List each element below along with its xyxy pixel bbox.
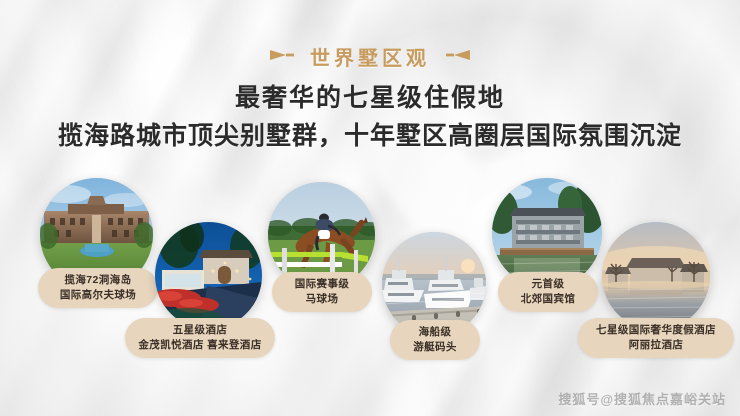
gallery-label-polo-field: 国际赛事级 马球场 (272, 272, 372, 312)
eyebrow-text: 世界墅区观 (310, 42, 430, 71)
gallery-label-golf-course: 揽海72洞海岛 国际高尔夫球场 (38, 268, 158, 308)
label-line-1: 五星级酒店 (137, 323, 263, 338)
arrow-left-icon (444, 48, 470, 66)
arrow-right-icon (270, 48, 296, 66)
gallery-label-alila-resort: 七星级国际奢华度假酒店 阿丽拉酒店 (578, 318, 734, 358)
label-line-2: 游艇码头 (402, 340, 468, 355)
eyebrow-row: 世界墅区观 (0, 42, 740, 71)
label-line-2: 国际高尔夫球场 (50, 288, 146, 303)
gallery-image-alila-resort[interactable] (602, 222, 710, 330)
watermark-text: 搜狐号@搜狐焦点嘉峪关站 (558, 389, 726, 408)
slide-canvas: 世界墅区观 最奢华的七星级住假地 揽海路城市顶尖别墅群，十年墅区高圈层国际氛围沉… (0, 0, 740, 416)
label-line-1: 七星级国际奢华度假酒店 (590, 323, 722, 338)
label-line-2: 阿丽拉酒店 (590, 338, 722, 353)
label-line-2: 马球场 (284, 292, 360, 307)
label-line-2: 北郊国宾馆 (510, 292, 586, 307)
gallery-label-yacht-marina: 海船级 游艇码头 (390, 320, 480, 360)
gallery-image-five-star-hotels[interactable] (155, 222, 262, 329)
label-line-1: 揽海72洞海岛 (50, 273, 146, 288)
label-line-1: 元首级 (510, 277, 586, 292)
headline-line-2: 揽海路城市顶尖别墅群，十年墅区高圈层国际氛围沉淀 (0, 120, 740, 153)
label-line-2: 金茂凯悦酒店 喜来登酒店 (137, 338, 263, 353)
label-line-1: 国际赛事级 (284, 277, 360, 292)
page-title: 最奢华的七星级住假地 揽海路城市顶尖别墅群，十年墅区高圈层国际氛围沉淀 (0, 82, 740, 152)
gallery-label-five-star-hotels: 五星级酒店 金茂凯悦酒店 喜来登酒店 (125, 318, 275, 358)
gallery-label-state-guesthouse: 元首级 北郊国宾馆 (498, 272, 598, 312)
label-line-1: 海船级 (402, 325, 468, 340)
headline-line-1: 最奢华的七星级住假地 (0, 82, 740, 115)
